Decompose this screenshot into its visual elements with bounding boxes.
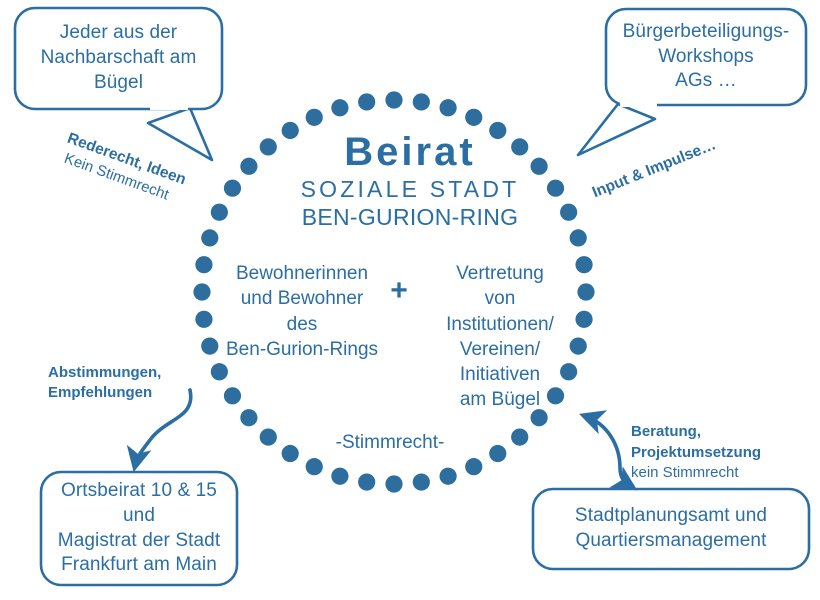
callout-top-right-label: Bürgerbeteiligungs- Workshops AGs … — [606, 9, 806, 105]
callout-top-left-label: Jeder aus der Nachbarschaft am Bügel — [15, 8, 222, 109]
callout-bottom-left-label: Ortsbeirat 10 & 15 und Magistrat der Sta… — [41, 472, 237, 585]
ring-dot — [385, 475, 402, 492]
ring-dot — [306, 458, 323, 475]
ring-dot — [570, 229, 587, 246]
ring-dot — [306, 109, 323, 126]
ring-dot — [260, 429, 277, 446]
ring-dot — [511, 429, 528, 446]
ring-dot — [331, 468, 348, 485]
ring-dot — [331, 99, 348, 116]
ring-dot — [195, 256, 212, 273]
diagram-canvas: Jeder aus der Nachbarschaft am Bügel Bür… — [0, 0, 820, 600]
annotation-beratung: Beratung, Projektumsetzung kein Stimmrec… — [631, 402, 761, 503]
ring-dot — [211, 363, 228, 380]
ring-dot — [224, 387, 241, 404]
annotation-beratung-bold: Beratung, Projektumsetzung — [631, 423, 761, 460]
ring-dot — [439, 99, 456, 116]
ring-dot — [385, 91, 402, 108]
annotation-abstimmungen: Abstimmungen, Empfehlungen — [48, 363, 161, 404]
annotation-beratung-sub: kein Stimmrecht — [631, 463, 761, 483]
ring-dot — [240, 409, 257, 426]
ring-dot — [439, 468, 456, 485]
ring-dot — [193, 283, 210, 300]
ring-dot — [465, 458, 482, 475]
ring-dot — [358, 473, 375, 490]
members-column-residents: Bewohnerinnen und Bewohner des Ben-Gurio… — [212, 261, 392, 362]
ring-dot — [413, 473, 430, 490]
arrow-beratung — [585, 416, 632, 487]
ring-dot — [465, 109, 482, 126]
ring-dot — [413, 93, 430, 110]
ring-dot — [358, 93, 375, 110]
members-column-institutions: Vertretung von Institutionen/ Vereinen/ … — [420, 261, 580, 413]
ring-dot — [201, 229, 218, 246]
ring-dot — [195, 311, 212, 328]
plus-icon: + — [384, 276, 414, 306]
voting-rights-note: -Stimmrecht- — [285, 431, 495, 454]
